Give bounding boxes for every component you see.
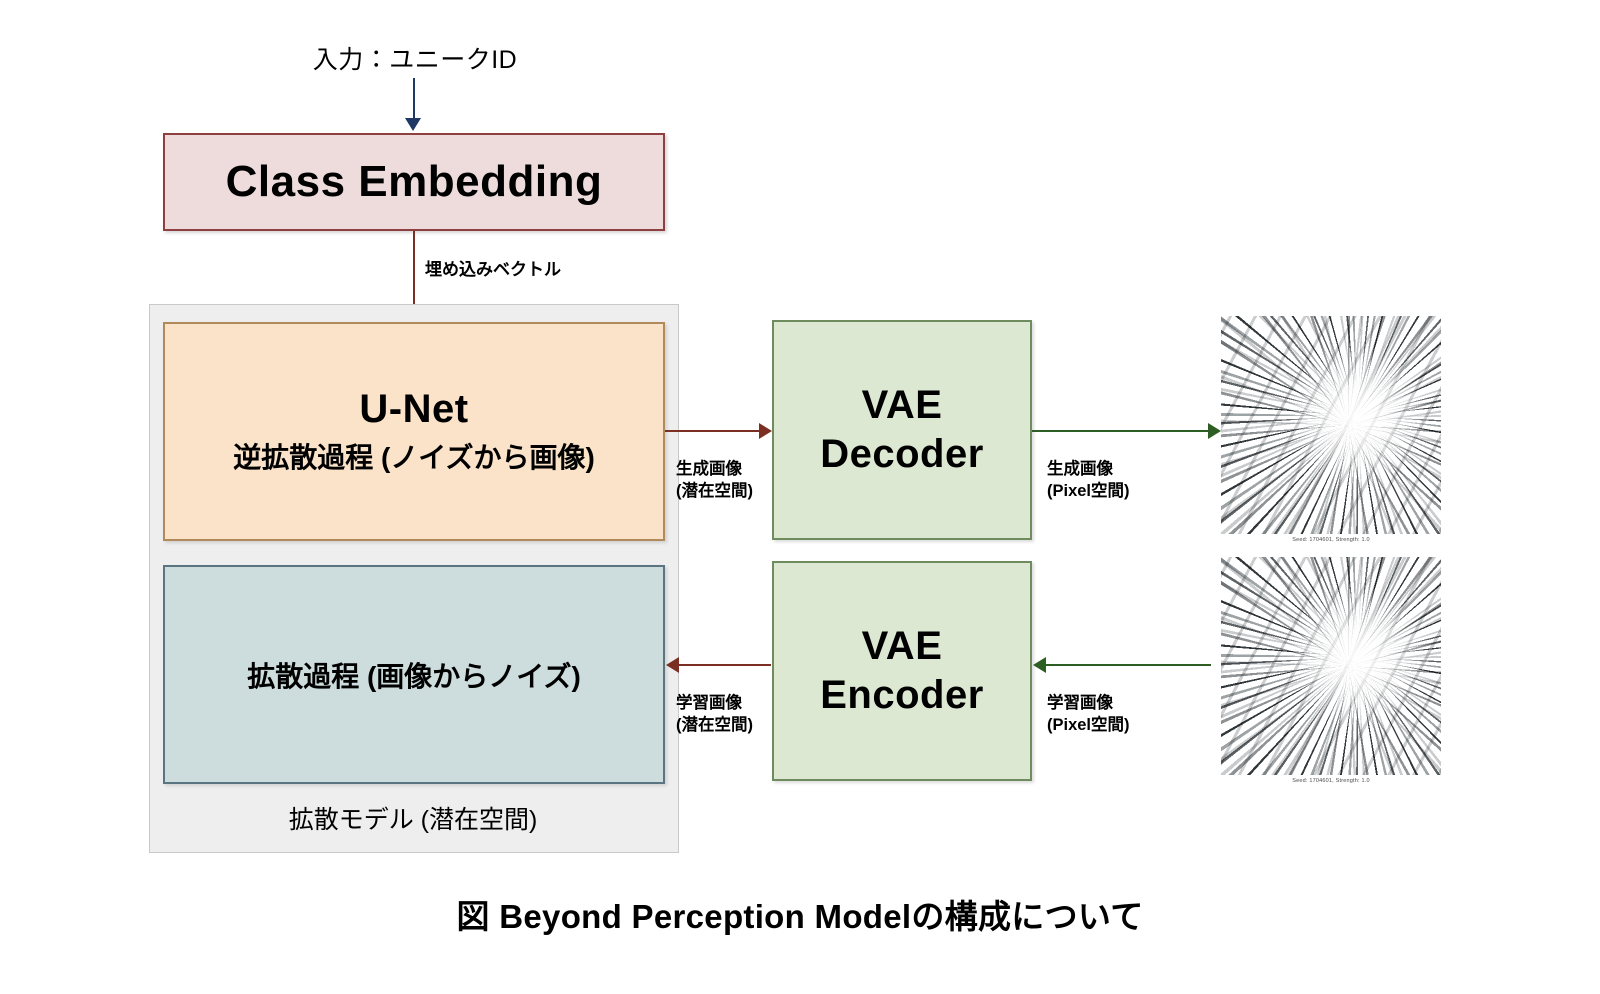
generated-image bbox=[1221, 316, 1441, 534]
generated-pixel-label: 生成画像 (Pixel空間) bbox=[1047, 458, 1130, 503]
generated-pixel-line1: 生成画像 bbox=[1047, 458, 1130, 480]
generated-latent-label: 生成画像 (潜在空間) bbox=[676, 458, 753, 503]
embedding-vector-label: 埋め込みベクトル bbox=[425, 255, 561, 280]
generated-image-center-glow bbox=[1221, 316, 1441, 534]
figure-caption: 図 Beyond Perception Modelの構成について bbox=[0, 890, 1600, 938]
training-pixel-label: 学習画像 (Pixel空間) bbox=[1047, 692, 1130, 737]
image-to-encoder-line bbox=[1046, 664, 1211, 666]
encoder-to-diffusion-arrow-head-icon bbox=[666, 657, 679, 673]
training-latent-line2: (潜在空間) bbox=[676, 714, 753, 736]
training-image-caption: Seed: 1704601, Strength: 1.0 bbox=[1221, 775, 1441, 784]
diffusion-process-box[interactable]: 拡散過程 (画像からノイズ) bbox=[163, 565, 665, 784]
vae-encoder-line1: VAE bbox=[820, 622, 984, 671]
vae-decoder-line1: VAE bbox=[820, 381, 984, 430]
training-pixel-line2: (Pixel空間) bbox=[1047, 714, 1130, 736]
unet-title: U-Net bbox=[359, 387, 468, 432]
image-to-encoder-arrow-head-icon bbox=[1033, 657, 1046, 673]
decoder-to-image-arrow-head-icon bbox=[1208, 423, 1221, 439]
unet-subtitle: 逆拡散過程 (ノイズから画像) bbox=[233, 436, 595, 476]
generated-latent-line2: (潜在空間) bbox=[676, 480, 753, 502]
generated-latent-line1: 生成画像 bbox=[676, 458, 753, 480]
input-arrow-line bbox=[413, 78, 415, 120]
encoder-to-diffusion-line bbox=[679, 664, 771, 666]
vae-encoder-box[interactable]: VAE Encoder bbox=[772, 561, 1032, 781]
training-latent-line1: 学習画像 bbox=[676, 692, 753, 714]
generated-image-figure: Seed: 1704601, Strength: 1.0 bbox=[1221, 316, 1441, 548]
training-image-center-glow bbox=[1221, 557, 1441, 775]
input-arrow-head-icon bbox=[405, 118, 421, 131]
decoder-to-image-line bbox=[1032, 430, 1210, 432]
training-image bbox=[1221, 557, 1441, 775]
latent-space-container-label: 拡散モデル (潜在空間) bbox=[149, 800, 677, 836]
training-latent-label: 学習画像 (潜在空間) bbox=[676, 692, 753, 737]
unet-to-decoder-arrow-head-icon bbox=[759, 423, 772, 439]
generated-image-caption: Seed: 1704601, Strength: 1.0 bbox=[1221, 534, 1441, 543]
generated-pixel-line2: (Pixel空間) bbox=[1047, 480, 1130, 502]
diagram-canvas: 入力：ユニークID Class Embedding 埋め込みベクトル 拡散モデル… bbox=[0, 0, 1600, 994]
class-embedding-box[interactable]: Class Embedding bbox=[163, 133, 665, 231]
unet-box[interactable]: U-Net 逆拡散過程 (ノイズから画像) bbox=[163, 322, 665, 541]
training-image-figure: Seed: 1704601, Strength: 1.0 bbox=[1221, 557, 1441, 789]
unet-to-decoder-line bbox=[665, 430, 760, 432]
class-embedding-title: Class Embedding bbox=[226, 157, 603, 207]
vae-encoder-line2: Encoder bbox=[820, 671, 984, 720]
training-pixel-line1: 学習画像 bbox=[1047, 692, 1130, 714]
diffusion-process-title: 拡散過程 (画像からノイズ) bbox=[247, 655, 581, 695]
vae-decoder-line2: Decoder bbox=[820, 430, 984, 479]
input-label: 入力：ユニークID bbox=[300, 40, 530, 76]
vae-decoder-box[interactable]: VAE Decoder bbox=[772, 320, 1032, 540]
